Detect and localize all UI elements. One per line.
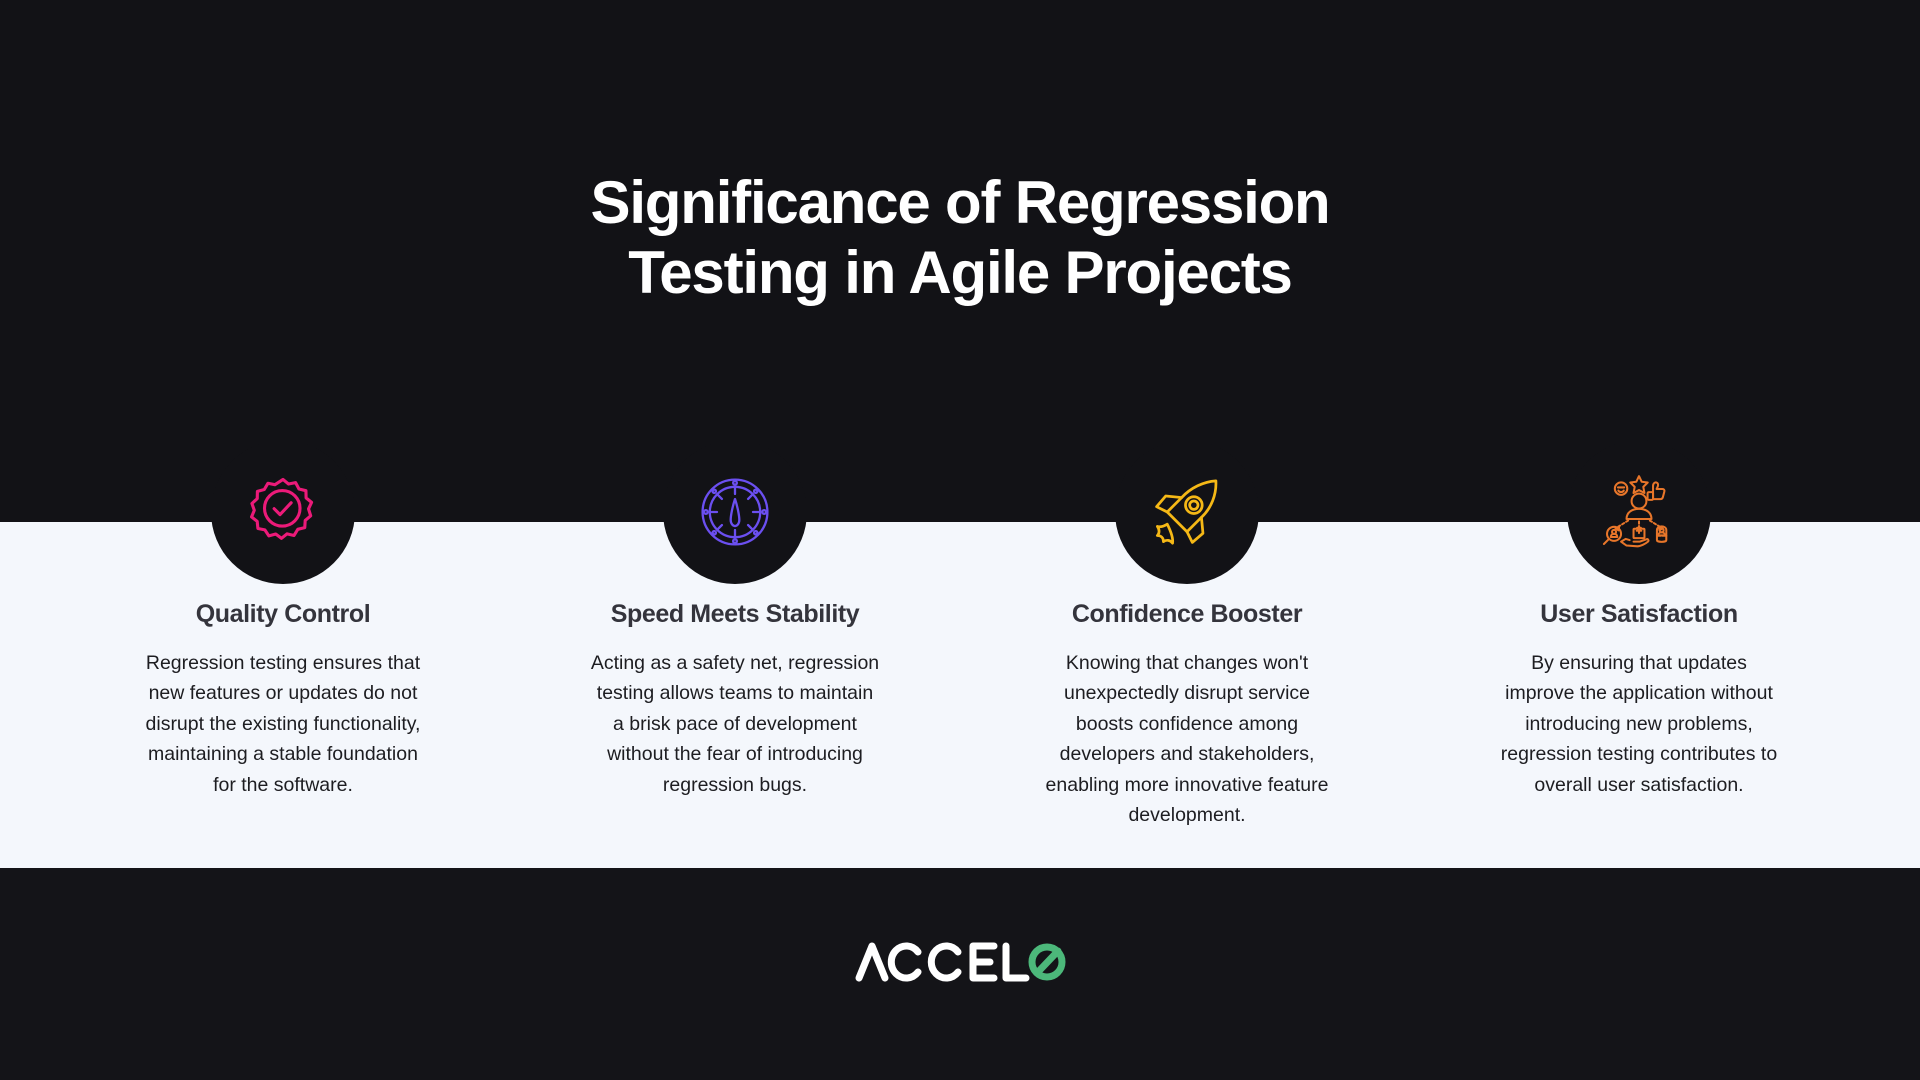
card-body: Acting as a safety net, regression testi… bbox=[590, 648, 880, 800]
card-user-satisfaction: User Satisfaction By ensuring that updat… bbox=[1414, 0, 1864, 1080]
icon-disc-user-satisfaction bbox=[1567, 440, 1711, 584]
card-title: Confidence Booster bbox=[962, 600, 1412, 629]
icon-disc-quality-control bbox=[211, 440, 355, 584]
speedometer-icon bbox=[699, 476, 771, 548]
card-title: User Satisfaction bbox=[1414, 600, 1864, 629]
card-title: Quality Control bbox=[58, 600, 508, 629]
accelq-logo bbox=[0, 938, 1920, 986]
card-title: Speed Meets Stability bbox=[510, 600, 960, 629]
icon-disc-confidence-booster bbox=[1115, 440, 1259, 584]
accelq-logo-mark bbox=[854, 938, 1066, 986]
card-body: By ensuring that updates improve the app… bbox=[1494, 648, 1784, 800]
badge-check-icon bbox=[246, 475, 320, 549]
icon-disc-speed-meets-stability bbox=[663, 440, 807, 584]
card-quality-control: Quality Control Regression testing ensur… bbox=[58, 0, 508, 1080]
user-satisfaction-icon bbox=[1600, 473, 1678, 551]
card-confidence-booster: Confidence Booster Knowing that changes … bbox=[962, 0, 1412, 1080]
card-body: Regression testing ensures that new feat… bbox=[138, 648, 428, 800]
card-body: Knowing that changes won't unexpectedly … bbox=[1042, 648, 1332, 830]
rocket-icon bbox=[1149, 474, 1225, 550]
card-speed-meets-stability: Speed Meets Stability Acting as a safety… bbox=[510, 0, 960, 1080]
